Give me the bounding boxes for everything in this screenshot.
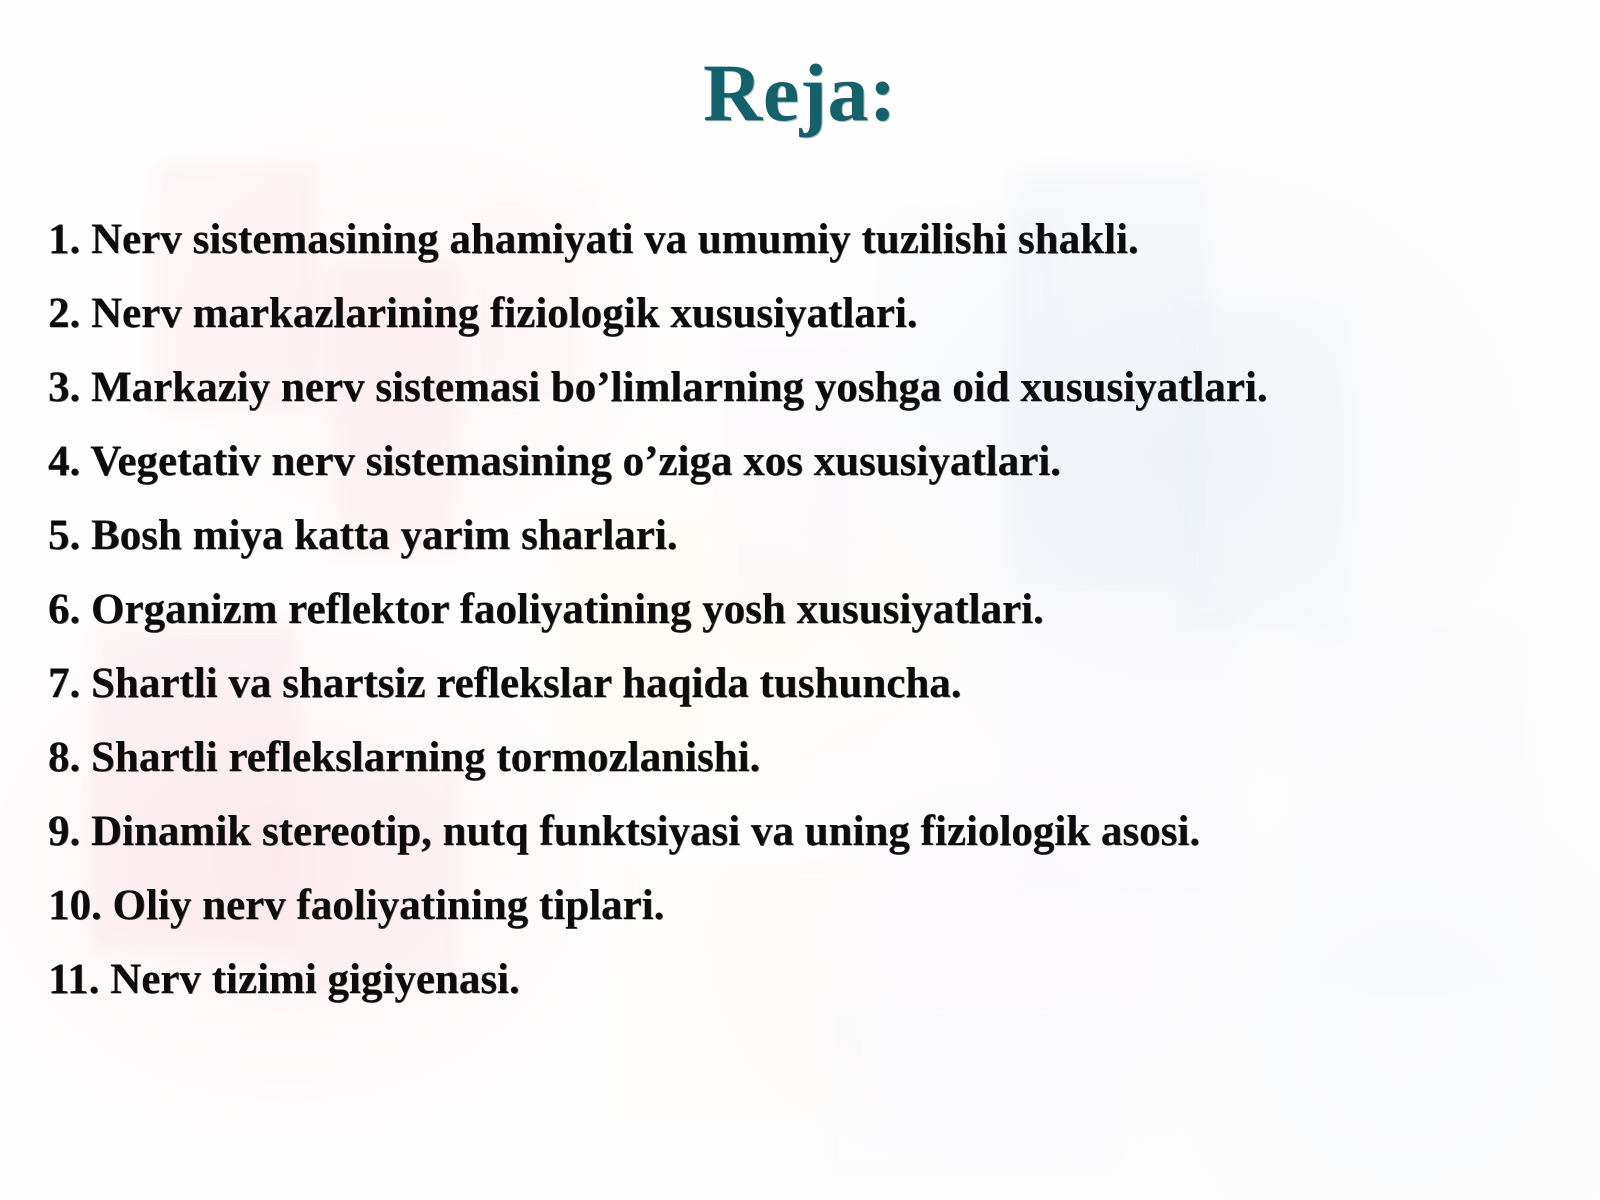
list-item-label: Oliy nerv faoliyatining tiplari. (113, 882, 665, 929)
list-item-label: Dinamik stereotip, nutq funktsiyasi va u… (91, 808, 1200, 855)
list-item-number: 3. (48, 364, 80, 411)
list-item-label: Shartli reflekslarning tormozlanishi. (91, 734, 760, 781)
list-item-label: Nerv tizimi gigiyenasi. (110, 956, 520, 1003)
list-item: 10. Oliy nerv faoliyatining tiplari. (48, 884, 1576, 958)
list-item-number: 4. (48, 438, 80, 485)
slide-canvas: Reja: 1. Nerv sistemasining ahamiyati va… (0, 0, 1600, 1200)
list-item-label: Markaziy nerv sistemasi bo’limlarning yo… (91, 364, 1268, 411)
list-item: 1. Nerv sistemasining ahamiyati va umumi… (48, 218, 1576, 292)
list-item-number: 11. (48, 956, 99, 1003)
list-item-number: 2. (48, 290, 80, 337)
list-item-label: Vegetativ nerv sistemasining o’ziga xos … (90, 438, 1061, 485)
list-item-number: 9. (48, 808, 80, 855)
list-item: 11. Nerv tizimi gigiyenasi. (48, 958, 1576, 1032)
list-item-label: Organizm reflektor faoliyatining yosh xu… (91, 586, 1044, 633)
list-item: 8. Shartli reflekslarning tormozlanishi. (48, 736, 1576, 810)
list-item-number: 7. (48, 660, 80, 707)
list-item-number: 10. (48, 882, 102, 929)
list-item: 9. Dinamik stereotip, nutq funktsiyasi v… (48, 810, 1576, 884)
list-item-number: 8. (48, 734, 80, 781)
list-item-number: 5. (48, 512, 80, 559)
list-item-number: 1. (48, 216, 80, 263)
list-item-label: Nerv markazlarining fiziologik xususiyat… (91, 290, 918, 337)
list-item: 7. Shartli va shartsiz reflekslar haqida… (48, 662, 1576, 736)
list-item: 6. Organizm reflektor faoliyatining yosh… (48, 588, 1576, 662)
page-title: Reja: (0, 52, 1600, 134)
list-item: 4. Vegetativ nerv sistemasining o’ziga x… (48, 440, 1576, 514)
list-item: 2. Nerv markazlarining fiziologik xususi… (48, 292, 1576, 366)
list-item-label: Shartli va shartsiz reflekslar haqida tu… (91, 660, 962, 707)
list-item-number: 6. (48, 586, 80, 633)
list-item-label: Nerv sistemasining ahamiyati va umumiy t… (91, 216, 1139, 263)
list-item: 3. Markaziy nerv sistemasi bo’limlarning… (48, 366, 1576, 440)
list-item: 5. Bosh miya katta yarim sharlari. (48, 514, 1576, 588)
outline-list: 1. Nerv sistemasining ahamiyati va umumi… (48, 218, 1576, 1032)
list-item-label: Bosh miya katta yarim sharlari. (91, 512, 677, 559)
